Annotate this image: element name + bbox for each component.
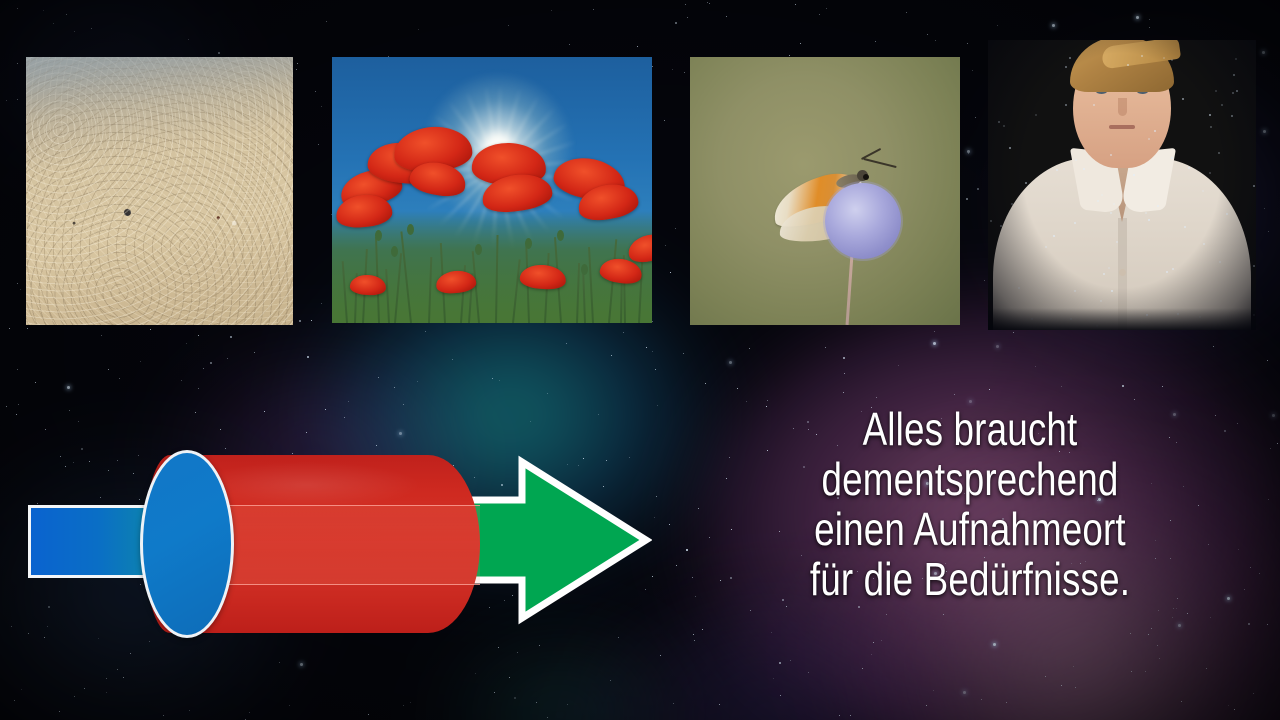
butterfly-flower-photo (690, 57, 960, 325)
butterfly-antenna-right (863, 157, 896, 167)
presenter-edge-fade (988, 40, 1256, 330)
flower-stem (846, 255, 854, 325)
poppy-bud (557, 230, 564, 241)
presenter-bottom-fade (988, 308, 1256, 330)
sand-beach-photo (26, 57, 293, 325)
poppy-bud (525, 238, 532, 249)
slide-caption: Alles braucht dementsprechend einen Aufn… (754, 404, 1186, 604)
poppy-bud (375, 230, 382, 241)
caption-line-3: einen Aufnahmeort (754, 504, 1186, 554)
poppy-bud (475, 244, 482, 255)
caption-line-2: dementsprechend (754, 454, 1186, 504)
flower-head (825, 183, 901, 259)
caption-line-1: Alles braucht (754, 404, 1186, 454)
poppy-bud (407, 224, 414, 235)
caption-line-4: für die Bedürfnisse. (754, 554, 1186, 604)
poppy-bud (581, 264, 588, 275)
presenter-photo (988, 40, 1256, 330)
butterfly-antenna-left (861, 148, 881, 160)
poppy-bud (391, 246, 398, 257)
slide-root: Alles braucht dementsprechend einen Aufn… (0, 0, 1280, 720)
poppy-field-photo (332, 57, 652, 323)
